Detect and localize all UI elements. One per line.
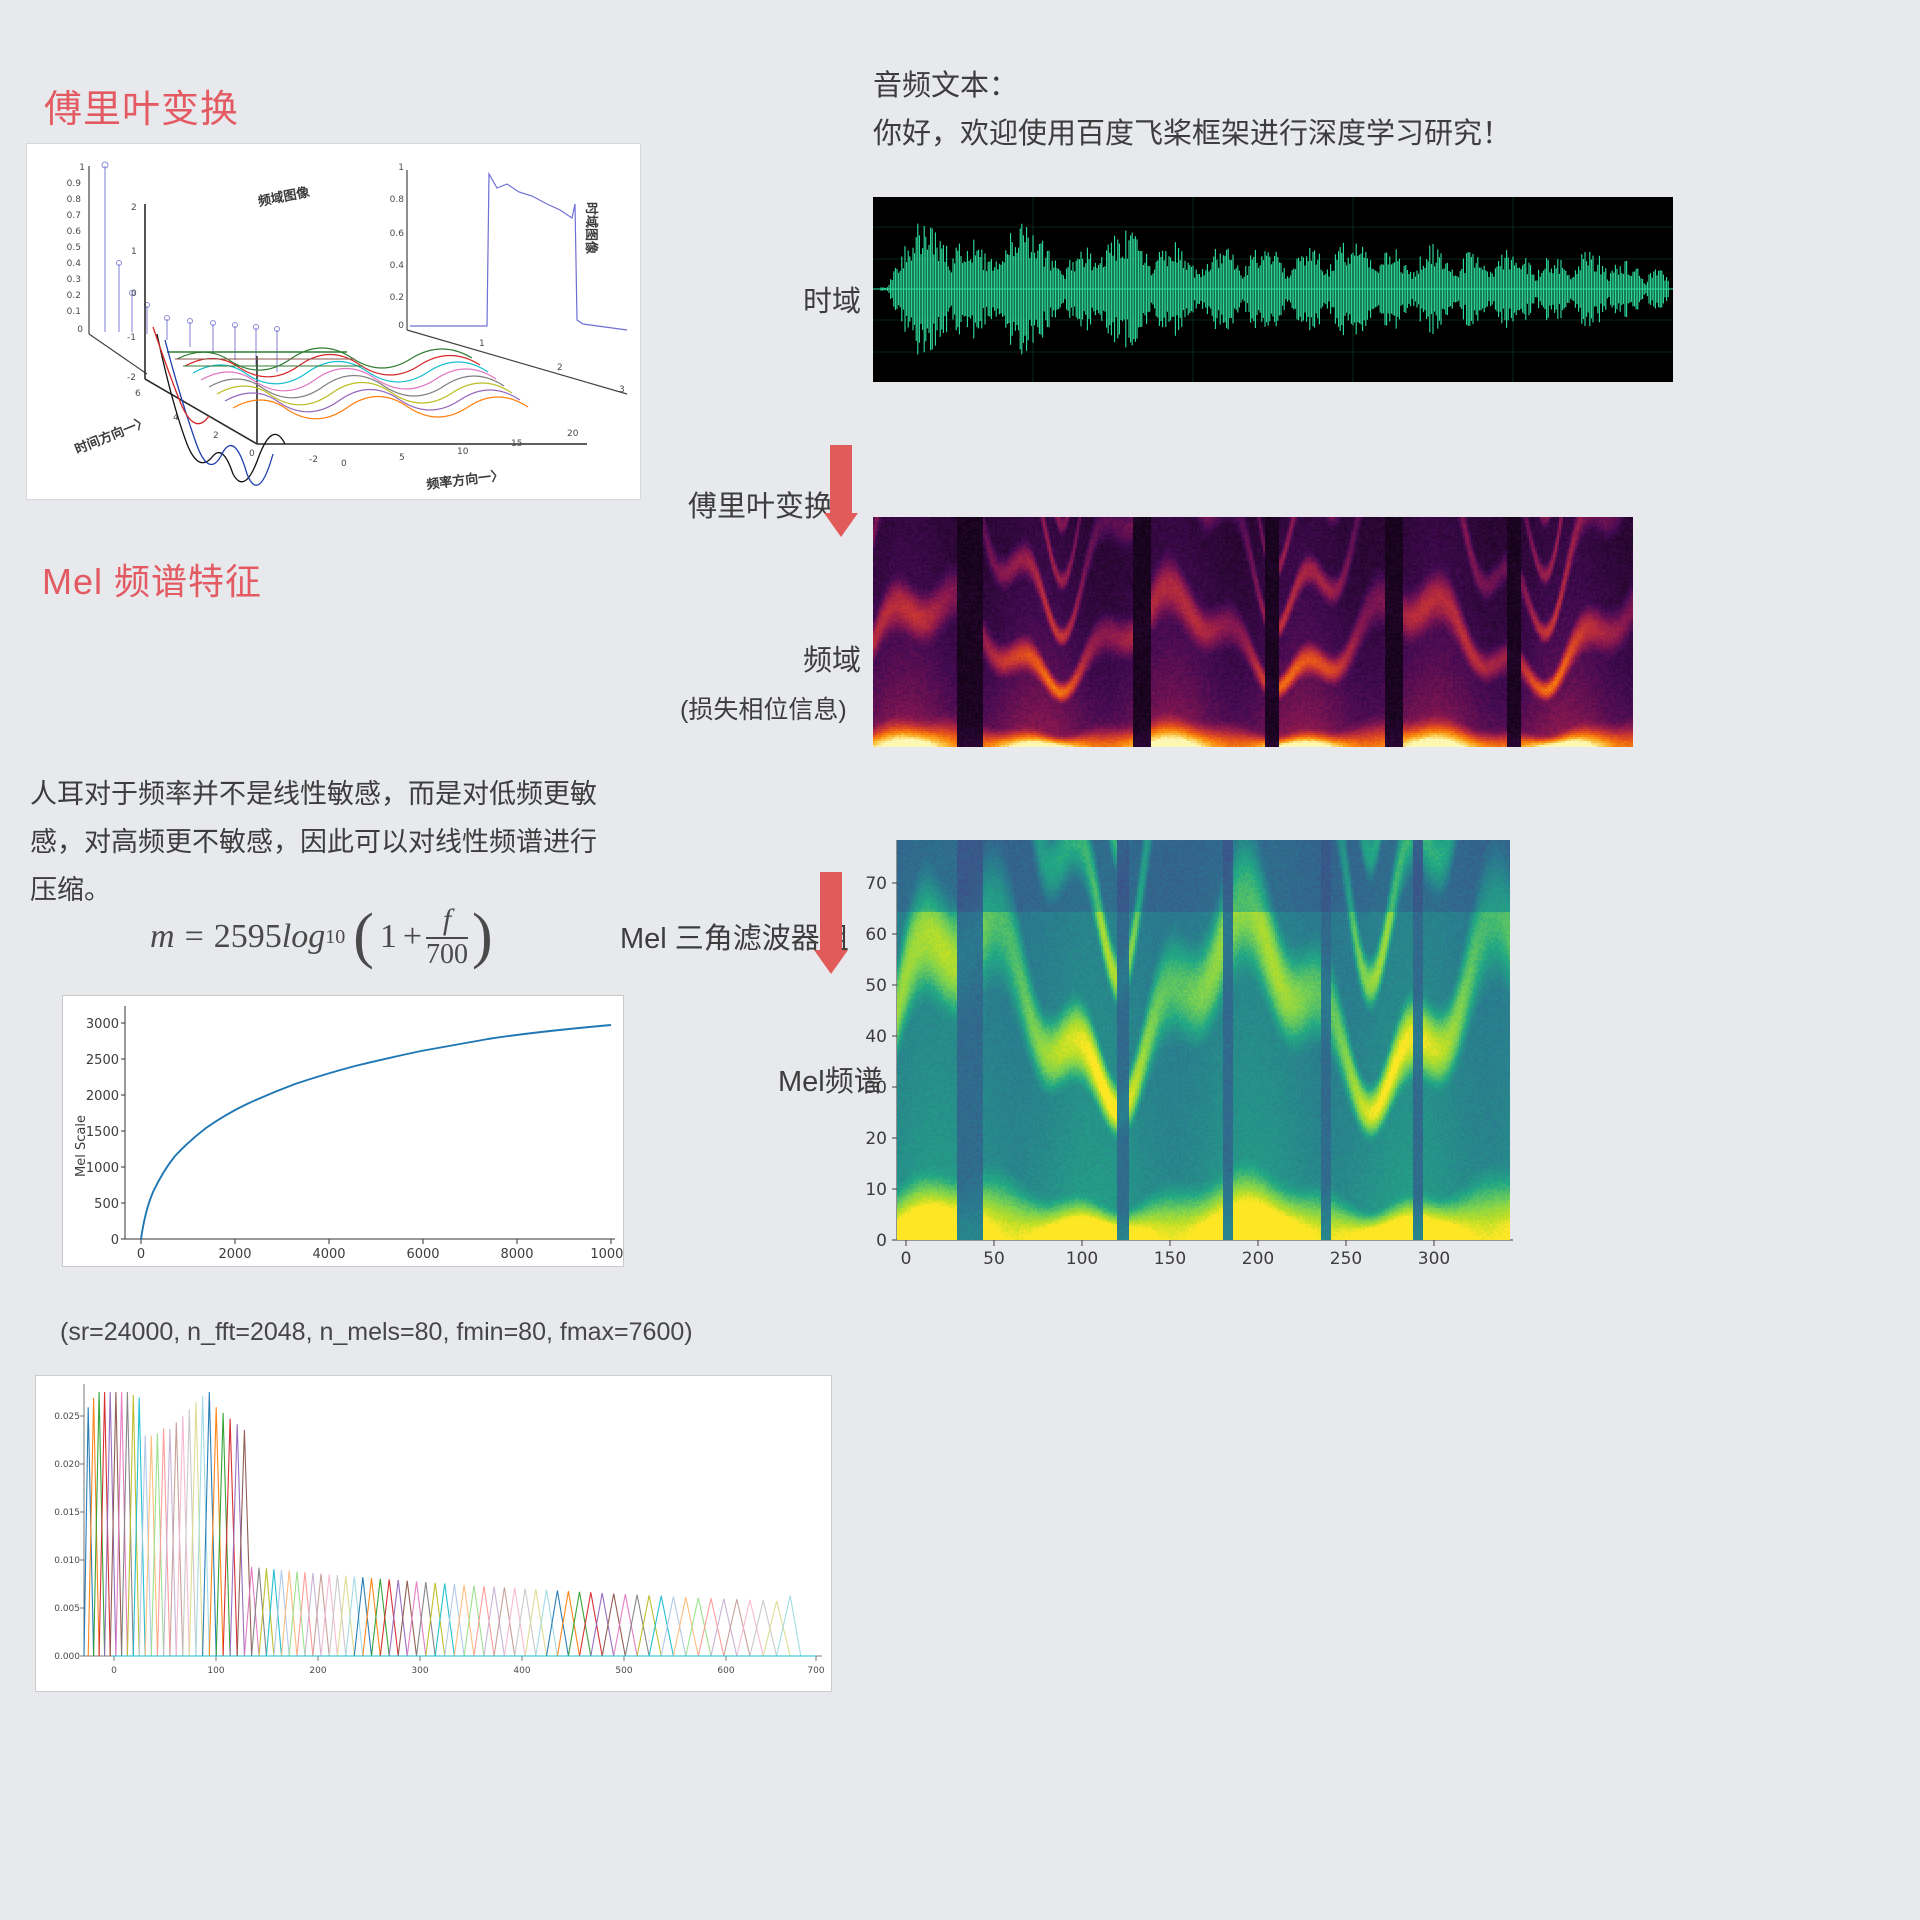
formula-plus: + bbox=[403, 918, 422, 956]
mel-filterbank-chart: 0.000 0.005 0.010 0.015 0.020 0.025 0100… bbox=[35, 1375, 832, 1692]
svg-text:0.6: 0.6 bbox=[67, 227, 82, 237]
svg-text:1: 1 bbox=[79, 163, 85, 173]
svg-text:0.005: 0.005 bbox=[54, 1604, 80, 1614]
svg-text:0.8: 0.8 bbox=[67, 195, 82, 205]
svg-text:1000: 1000 bbox=[86, 1161, 119, 1176]
fourier-figure-svg: 10.9 0.80.7 0.60.5 0.40.3 0.20.1 0 bbox=[27, 144, 640, 499]
svg-text:600: 600 bbox=[717, 1666, 734, 1676]
svg-text:2000: 2000 bbox=[86, 1089, 119, 1104]
svg-text:1: 1 bbox=[398, 163, 404, 173]
svg-text:300: 300 bbox=[411, 1666, 428, 1676]
audio-text-value: 你好，欢迎使用百度飞桨框架进行深度学习研究！ bbox=[873, 110, 1693, 158]
svg-text:0.6: 0.6 bbox=[390, 229, 405, 239]
mel-description-paragraph: 人耳对于频率并不是线性敏感，而是对低频更敏感，对高频更不敏感，因此可以对线性频谱… bbox=[30, 770, 610, 914]
mel-scale-ylabel: Mel Scale bbox=[74, 1115, 89, 1177]
svg-text:3000: 3000 bbox=[86, 1017, 119, 1032]
svg-text:时域图像: 时域图像 bbox=[583, 202, 599, 255]
formula-denominator: 700 bbox=[426, 939, 468, 969]
svg-text:0.010: 0.010 bbox=[54, 1556, 80, 1566]
svg-text:2000: 2000 bbox=[218, 1247, 251, 1262]
svg-text:0: 0 bbox=[131, 289, 137, 299]
linear-spectrogram-svg bbox=[873, 517, 1633, 747]
time-domain-label: 时域 bbox=[803, 278, 861, 320]
mel-scale-chart: 0 500 1000 1500 2000 2500 3000 02000 400… bbox=[62, 995, 624, 1267]
svg-text:-2: -2 bbox=[127, 373, 136, 383]
svg-text:5: 5 bbox=[399, 453, 405, 463]
frequency-domain-sublabel: (损失相位信息) bbox=[680, 690, 847, 726]
svg-text:500: 500 bbox=[615, 1666, 632, 1676]
svg-text:1: 1 bbox=[131, 247, 137, 257]
svg-text:0: 0 bbox=[398, 321, 404, 331]
svg-text:2500: 2500 bbox=[86, 1053, 119, 1068]
audio-text-label: 音频文本： bbox=[873, 62, 1693, 110]
frequency-domain-label: 频域 bbox=[803, 637, 861, 679]
svg-text:100: 100 bbox=[207, 1666, 224, 1676]
svg-text:0.020: 0.020 bbox=[54, 1460, 80, 1470]
svg-text:3: 3 bbox=[619, 385, 625, 395]
mel-spectrum-heading: Mel 频谱特征 bbox=[42, 553, 262, 605]
svg-text:0.015: 0.015 bbox=[54, 1508, 80, 1518]
formula-log: log bbox=[282, 918, 325, 956]
formula-log-base: 10 bbox=[325, 926, 345, 949]
svg-text:0.2: 0.2 bbox=[67, 291, 81, 301]
svg-text:0.8: 0.8 bbox=[390, 195, 405, 205]
formula-coefficient: 2595 bbox=[214, 918, 282, 956]
svg-text:6: 6 bbox=[135, 389, 141, 399]
svg-text:-1: -1 bbox=[127, 333, 136, 343]
spectrogram-columns bbox=[873, 517, 1633, 747]
svg-text:20: 20 bbox=[567, 429, 579, 439]
formula-lhs: m bbox=[150, 918, 175, 956]
mel-spectrogram-svg bbox=[897, 840, 1510, 1240]
formula-fraction: f 700 bbox=[426, 905, 468, 969]
svg-text:0.3: 0.3 bbox=[67, 275, 81, 285]
mel-formula: m = 2595 log 10 ( 1 + f 700 ) bbox=[150, 905, 570, 969]
fourier-transform-figure: 10.9 0.80.7 0.60.5 0.40.3 0.20.1 0 bbox=[26, 143, 641, 500]
svg-text:0.025: 0.025 bbox=[54, 1412, 80, 1422]
svg-text:700: 700 bbox=[807, 1666, 824, 1676]
svg-text:10: 10 bbox=[457, 447, 469, 457]
mel-filterbank-svg: 0.000 0.005 0.010 0.015 0.020 0.025 0100… bbox=[36, 1376, 831, 1691]
mel-spectrogram-panel bbox=[897, 840, 1510, 1240]
svg-text:0.2: 0.2 bbox=[390, 293, 404, 303]
svg-text:0: 0 bbox=[111, 1666, 117, 1676]
formula-numerator: f bbox=[443, 905, 451, 937]
svg-text:0.4: 0.4 bbox=[390, 261, 405, 271]
waveform-panel bbox=[873, 197, 1673, 382]
svg-text:0: 0 bbox=[341, 459, 347, 469]
linear-spectrogram-panel bbox=[873, 517, 1633, 747]
formula-one: 1 bbox=[374, 918, 403, 956]
svg-text:8000: 8000 bbox=[500, 1247, 533, 1262]
formula-equals: = bbox=[175, 918, 214, 956]
svg-text:1500: 1500 bbox=[86, 1125, 119, 1140]
svg-text:2: 2 bbox=[213, 431, 219, 441]
svg-text:0: 0 bbox=[77, 325, 83, 335]
svg-text:1: 1 bbox=[479, 339, 485, 349]
svg-text:2: 2 bbox=[557, 363, 563, 373]
svg-text:10000: 10000 bbox=[590, 1247, 623, 1262]
svg-text:200: 200 bbox=[309, 1666, 326, 1676]
svg-text:0: 0 bbox=[111, 1233, 119, 1248]
svg-text:0.1: 0.1 bbox=[67, 307, 81, 317]
formula-open-paren: ( bbox=[345, 912, 374, 962]
svg-text:15: 15 bbox=[511, 439, 522, 449]
mel-scale-caption: (sr=24000, n_fft=2048, n_mels=80, fmin=8… bbox=[60, 1318, 630, 1347]
svg-text:0.4: 0.4 bbox=[67, 259, 82, 269]
svg-text:4000: 4000 bbox=[312, 1247, 345, 1262]
svg-text:0.5: 0.5 bbox=[67, 243, 81, 253]
svg-text:0.9: 0.9 bbox=[67, 179, 82, 189]
formula-close-paren: ) bbox=[472, 912, 493, 962]
audio-text-block: 音频文本： 你好，欢迎使用百度飞桨框架进行深度学习研究！ bbox=[873, 62, 1693, 158]
svg-text:2: 2 bbox=[131, 203, 137, 213]
waveform-svg bbox=[873, 197, 1673, 382]
svg-text:400: 400 bbox=[513, 1666, 530, 1676]
fourier-transform-heading: 傅里叶变换 bbox=[44, 78, 239, 133]
svg-text:6000: 6000 bbox=[406, 1247, 439, 1262]
fourier-arrow-label: 傅里叶变换 bbox=[688, 483, 833, 525]
fourier-arrow-icon bbox=[824, 445, 858, 537]
svg-text:0: 0 bbox=[249, 449, 255, 459]
mel-spectrogram-columns bbox=[897, 840, 1510, 1240]
svg-text:-2: -2 bbox=[309, 455, 318, 465]
svg-text:500: 500 bbox=[94, 1197, 119, 1212]
svg-text:0.000: 0.000 bbox=[54, 1652, 80, 1662]
svg-text:0: 0 bbox=[137, 1247, 145, 1262]
mel-scale-svg: 0 500 1000 1500 2000 2500 3000 02000 400… bbox=[63, 996, 623, 1266]
svg-text:0.7: 0.7 bbox=[67, 211, 81, 221]
